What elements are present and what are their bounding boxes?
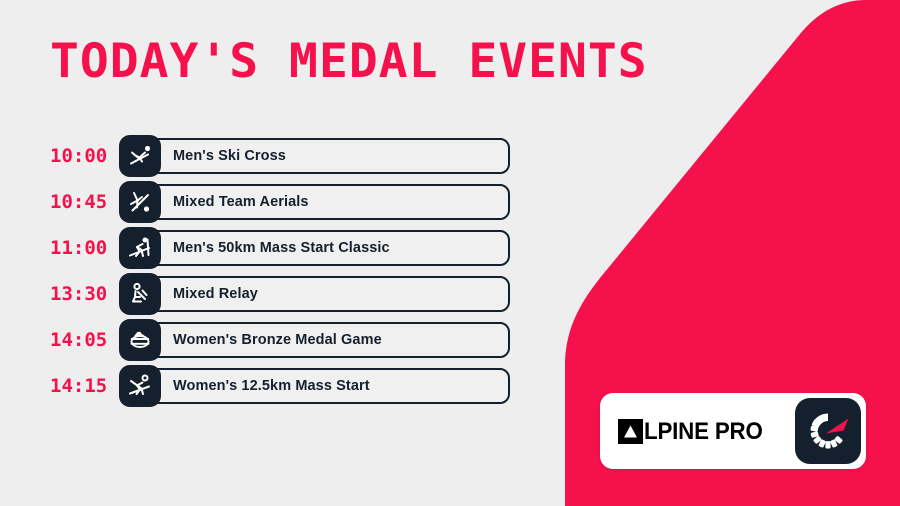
schedule-row[interactable]: 10:00 Men's Ski Cross	[0, 138, 560, 174]
schedule-row[interactable]: 14:05 Women's Bronze Medal Game	[0, 322, 560, 358]
schedule-row[interactable]: 14:15 Women's 12.5km Mass Start	[0, 368, 560, 404]
event-time: 10:45	[50, 191, 107, 213]
ski-cross-icon	[119, 135, 161, 177]
event-name: Mixed Relay	[173, 286, 258, 302]
curling-icon	[119, 319, 161, 361]
cross-country-skiing-icon	[119, 227, 161, 269]
schedule-row[interactable]: 13:30 Mixed Relay	[0, 276, 560, 312]
event-time: 14:15	[50, 375, 107, 397]
page-title: TODAY'S MEDAL EVENTS	[50, 38, 648, 85]
biathlon-icon	[119, 273, 161, 315]
event-time: 11:00	[50, 237, 107, 259]
event-name: Mixed Team Aerials	[173, 194, 309, 210]
event-card[interactable]: Men's 50km Mass Start Classic	[135, 230, 510, 266]
event-time: 10:00	[50, 145, 107, 167]
event-name: Men's Ski Cross	[173, 148, 286, 164]
mountain-a-icon	[618, 419, 643, 444]
event-card[interactable]: Women's Bronze Medal Game	[135, 322, 510, 358]
speed-gauge-icon	[795, 398, 861, 464]
alpine-pro-wordmark: LPINE PRO	[618, 418, 772, 444]
event-card[interactable]: Women's 12.5km Mass Start	[135, 368, 510, 404]
event-time: 13:30	[50, 283, 107, 305]
event-name: Men's 50km Mass Start Classic	[173, 240, 390, 256]
event-card[interactable]: Mixed Relay	[135, 276, 510, 312]
medal-events-list: 10:00 Men's Ski Cross 10:45	[0, 138, 560, 414]
schedule-row[interactable]: 11:00 Men's 50km Mass Start Classic	[0, 230, 560, 266]
event-name: Women's Bronze Medal Game	[173, 332, 382, 348]
event-time: 14:05	[50, 329, 107, 351]
wordmark-text: LPINE PRO	[644, 419, 763, 444]
event-card[interactable]: Mixed Team Aerials	[135, 184, 510, 220]
event-card[interactable]: Men's Ski Cross	[135, 138, 510, 174]
aerials-icon	[119, 181, 161, 223]
brand-logo-card[interactable]: LPINE PRO	[600, 393, 866, 469]
schedule-row[interactable]: 10:45 Mixed Team Aerials	[0, 184, 560, 220]
event-name: Women's 12.5km Mass Start	[173, 378, 370, 394]
biathlon-skier-icon	[119, 365, 161, 407]
poster-canvas: TODAY'S MEDAL EVENTS 10:00 Men's Ski Cro…	[0, 0, 900, 506]
